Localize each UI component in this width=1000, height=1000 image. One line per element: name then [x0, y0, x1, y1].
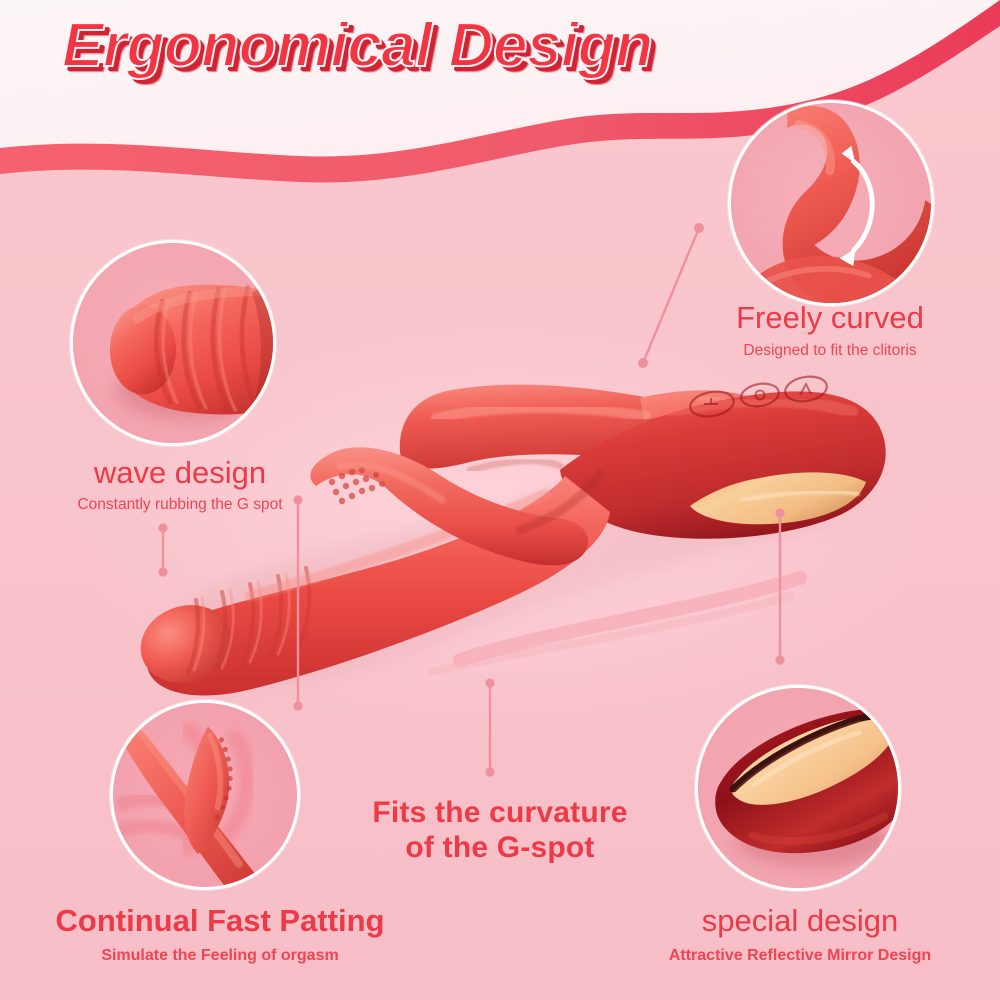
page-title-wrap: Ergonomical Design — [62, 10, 652, 81]
label-continual-fast-patting: Continual Fast Patting Simulate the Feel… — [30, 903, 410, 966]
label-freely-curved: Freely curved Designed to fit the clitor… — [680, 300, 980, 361]
label-special-design: special design Attractive Reflective Mir… — [640, 903, 960, 966]
patting-heading: Continual Fast Patting — [30, 903, 410, 940]
special-design-subtitle: Attractive Reflective Mirror Design — [640, 946, 960, 967]
freely-curved-heading: Freely curved — [680, 300, 980, 337]
special-design-heading: special design — [640, 903, 960, 940]
page-title: Ergonomical Design — [62, 10, 652, 81]
fits-curvature-heading-line1: Fits the curvature — [345, 795, 655, 830]
label-wave-design: wave design Constantly rubbing the G spo… — [30, 455, 330, 515]
fits-curvature-heading-line2: of the G-spot — [345, 830, 655, 865]
wave-design-subtitle: Constantly rubbing the G spot — [30, 495, 330, 515]
wave-design-heading: wave design — [30, 455, 330, 492]
label-fits-curvature: Fits the curvature of the G-spot — [345, 795, 655, 866]
infographic-poster: Ergonomical Design — [0, 0, 1000, 1000]
patting-subtitle: Simulate the Feeling of orgasm — [30, 946, 410, 967]
freely-curved-subtitle: Designed to fit the clitoris — [680, 341, 980, 361]
